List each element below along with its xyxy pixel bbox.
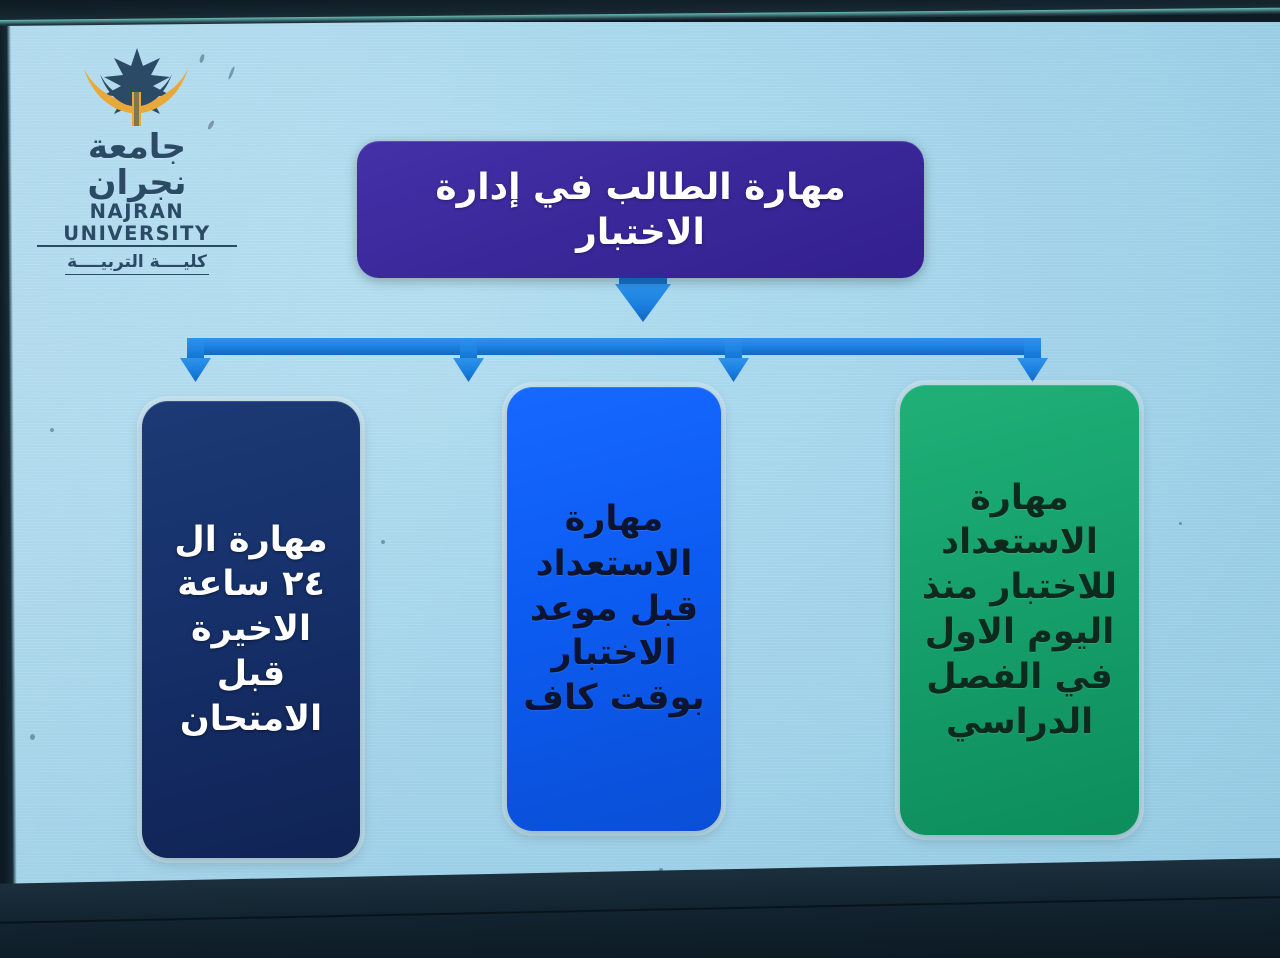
- dust-speck: [50, 428, 54, 432]
- logo-faculty-name: كليــــة التربيــــة: [65, 252, 209, 275]
- najran-emblem-icon: [78, 46, 196, 128]
- presentation-slide: جامعة نجران NAJRAN UNIVERSITY كليــــة ا…: [4, 22, 1280, 892]
- dust-speck: [381, 540, 385, 544]
- diagram-node-blue: مهارة الاستعداد قبل موعد الاختبار بوقت ك…: [507, 387, 721, 831]
- diagram-node-navy-label: مهارة ال ٢٤ ساعة الاخيرة قبل الامتحان: [142, 512, 360, 748]
- slide-photo: جامعة نجران NAJRAN UNIVERSITY كليــــة ا…: [0, 0, 1280, 958]
- diagram-title-label: مهارة الطالب في إدارة الاختبار: [357, 165, 924, 255]
- connector-arrow-2: [453, 338, 484, 382]
- dust-speck: [30, 734, 35, 740]
- diagram-title-node: مهارة الطالب في إدارة الاختبار: [357, 141, 924, 278]
- logo-english-name: NAJRAN UNIVERSITY: [37, 201, 237, 247]
- diagram-node-navy: مهارة ال ٢٤ ساعة الاخيرة قبل الامتحان: [142, 401, 360, 858]
- connector-arrow-1: [180, 338, 211, 382]
- dust-speck: [1179, 522, 1182, 525]
- logo-arabic-name: جامعة نجران: [37, 130, 237, 201]
- connector-arrow-3: [718, 338, 749, 382]
- diagram-node-green-label: مهارة الاستعداد للاختبار منذ اليوم الاول…: [900, 470, 1139, 751]
- diagram-node-green: مهارة الاستعداد للاختبار منذ اليوم الاول…: [900, 385, 1139, 835]
- university-logo: جامعة نجران NAJRAN UNIVERSITY كليــــة ا…: [37, 46, 237, 275]
- connector-bus: [187, 338, 1041, 355]
- diagram-node-blue-label: مهارة الاستعداد قبل موعد الاختبار بوقت ك…: [507, 491, 721, 727]
- connector-arrow-4: [1017, 338, 1048, 382]
